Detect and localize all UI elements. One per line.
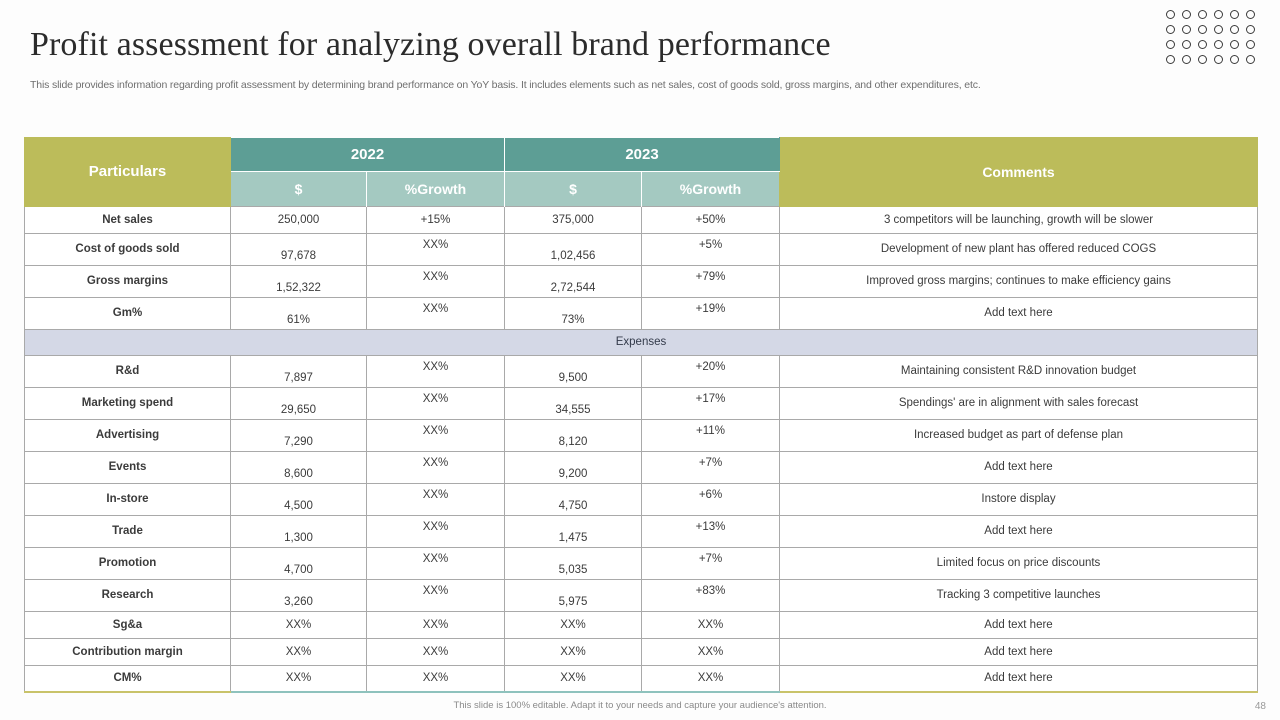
cell-2022-dollar: 4,700 [231, 547, 367, 579]
decorative-dot [1198, 25, 1207, 34]
cell-comment: Improved gross margins; continues to mak… [780, 265, 1258, 297]
cell-2022-growth: XX% [367, 419, 505, 451]
cell-2023-dollar: 5,035 [505, 547, 642, 579]
decorative-dot-grid [1166, 10, 1262, 70]
cell-2023-growth: +6% [642, 483, 780, 515]
row-label: CM% [25, 665, 231, 692]
cell-2023-dollar: XX% [505, 638, 642, 665]
cell-2023-growth: +50% [642, 206, 780, 233]
cell-comment: 3 competitors will be launching, growth … [780, 206, 1258, 233]
cell-2023-growth: XX% [642, 611, 780, 638]
cell-2023-dollar: XX% [505, 665, 642, 692]
cell-2023-dollar: 9,200 [505, 451, 642, 483]
cell-2023-growth: XX% [642, 665, 780, 692]
decorative-dot [1182, 10, 1191, 19]
column-header-comments: Comments [780, 138, 1258, 207]
cell-2022-dollar: 8,600 [231, 451, 367, 483]
cell-2022-growth: XX% [367, 665, 505, 692]
cell-2022-dollar: 61% [231, 297, 367, 329]
cell-2023-dollar: 8,120 [505, 419, 642, 451]
cell-2023-growth: +7% [642, 451, 780, 483]
cell-2022-dollar: 97,678 [231, 233, 367, 265]
table-row: Sg&aXX%XX%XX%XX%Add text here [25, 611, 1258, 638]
cell-2022-growth: XX% [367, 638, 505, 665]
cell-comment: Add text here [780, 297, 1258, 329]
decorative-dot [1198, 40, 1207, 49]
row-label: Events [25, 451, 231, 483]
column-subheader-2022-growth: %Growth [367, 171, 505, 206]
table-row: Gm%61%XX%73%+19%Add text here [25, 297, 1258, 329]
cell-2023-dollar: 375,000 [505, 206, 642, 233]
cell-2022-dollar: 7,290 [231, 419, 367, 451]
cell-2023-growth: +13% [642, 515, 780, 547]
cell-comment: Add text here [780, 638, 1258, 665]
decorative-dot [1230, 40, 1239, 49]
cell-2022-growth: XX% [367, 355, 505, 387]
cell-2022-dollar: 4,500 [231, 483, 367, 515]
decorative-dot [1166, 40, 1175, 49]
row-label: R&d [25, 355, 231, 387]
cell-comment: Add text here [780, 611, 1258, 638]
cell-2023-growth: +20% [642, 355, 780, 387]
row-label: Net sales [25, 206, 231, 233]
table-row: R&d7,897XX%9,500+20%Maintaining consiste… [25, 355, 1258, 387]
cell-2023-growth: +5% [642, 233, 780, 265]
row-label: Sg&a [25, 611, 231, 638]
cell-2022-dollar: 1,52,322 [231, 265, 367, 297]
section-label-expenses: Expenses [25, 329, 1258, 355]
cell-2023-dollar: 4,750 [505, 483, 642, 515]
cell-comment: Tracking 3 competitive launches [780, 579, 1258, 611]
cell-2022-dollar: 250,000 [231, 206, 367, 233]
cell-2022-dollar: 1,300 [231, 515, 367, 547]
table-row: Research3,260XX%5,975+83%Tracking 3 comp… [25, 579, 1258, 611]
cell-2022-growth: XX% [367, 387, 505, 419]
cell-2023-dollar: 73% [505, 297, 642, 329]
cell-2022-growth: XX% [367, 297, 505, 329]
cell-2023-growth: +19% [642, 297, 780, 329]
decorative-dot [1182, 40, 1191, 49]
cell-comment: Add text here [780, 515, 1258, 547]
cell-2022-dollar: XX% [231, 611, 367, 638]
cell-comment: Limited focus on price discounts [780, 547, 1258, 579]
cell-comment: Maintaining consistent R&D innovation bu… [780, 355, 1258, 387]
decorative-dot [1182, 25, 1191, 34]
cell-2023-growth: +11% [642, 419, 780, 451]
table-row: Net sales250,000+15%375,000+50%3 competi… [25, 206, 1258, 233]
table-row: Promotion4,700XX%5,035+7%Limited focus o… [25, 547, 1258, 579]
decorative-dot [1246, 10, 1255, 19]
cell-2022-growth: XX% [367, 233, 505, 265]
table-body: Net sales250,000+15%375,000+50%3 competi… [25, 206, 1258, 692]
table-row: CM%XX%XX%XX%XX%Add text here [25, 665, 1258, 692]
row-label: Gross margins [25, 265, 231, 297]
cell-2023-growth: XX% [642, 638, 780, 665]
row-label: Marketing spend [25, 387, 231, 419]
row-label: In-store [25, 483, 231, 515]
cell-2023-dollar: 34,555 [505, 387, 642, 419]
cell-comment: Development of new plant has offered red… [780, 233, 1258, 265]
profit-assessment-table: Particulars 2022 2023 Comments $ %Growth… [24, 137, 1258, 693]
page-title: Profit assessment for analyzing overall … [30, 26, 831, 64]
row-label: Trade [25, 515, 231, 547]
cell-2023-dollar: 5,975 [505, 579, 642, 611]
cell-2023-growth: +83% [642, 579, 780, 611]
cell-2022-growth: XX% [367, 451, 505, 483]
cell-2022-growth: XX% [367, 515, 505, 547]
column-subheader-2022-dollar: $ [231, 171, 367, 206]
decorative-dot [1166, 55, 1175, 64]
section-divider-row: Expenses [25, 329, 1258, 355]
decorative-dot [1214, 55, 1223, 64]
decorative-dot [1246, 25, 1255, 34]
table-row: Advertising7,290XX%8,120+11%Increased bu… [25, 419, 1258, 451]
footer-note: This slide is 100% editable. Adapt it to… [0, 700, 1280, 711]
column-header-year-2023: 2023 [505, 138, 780, 172]
table-row: Contribution marginXX%XX%XX%XX%Add text … [25, 638, 1258, 665]
decorative-dot [1246, 55, 1255, 64]
table-row: Events8,600XX%9,200+7%Add text here [25, 451, 1258, 483]
cell-comment: Add text here [780, 451, 1258, 483]
cell-2022-growth: XX% [367, 483, 505, 515]
cell-2023-dollar: 1,475 [505, 515, 642, 547]
decorative-dot [1230, 10, 1239, 19]
row-label: Gm% [25, 297, 231, 329]
decorative-dot [1198, 55, 1207, 64]
cell-2022-dollar: XX% [231, 665, 367, 692]
column-header-particulars: Particulars [25, 138, 231, 207]
row-label: Cost of goods sold [25, 233, 231, 265]
cell-2022-growth: XX% [367, 265, 505, 297]
column-subheader-2023-growth: %Growth [642, 171, 780, 206]
cell-comment: Increased budget as part of defense plan [780, 419, 1258, 451]
cell-2023-dollar: 9,500 [505, 355, 642, 387]
cell-2023-dollar: XX% [505, 611, 642, 638]
column-subheader-2023-dollar: $ [505, 171, 642, 206]
cell-2022-dollar: 3,260 [231, 579, 367, 611]
cell-2022-growth: XX% [367, 579, 505, 611]
page-number: 48 [1255, 701, 1266, 712]
decorative-dot [1214, 10, 1223, 19]
column-header-year-2022: 2022 [231, 138, 505, 172]
decorative-dot [1214, 40, 1223, 49]
table-row: Trade1,300XX%1,475+13%Add text here [25, 515, 1258, 547]
cell-2022-dollar: XX% [231, 638, 367, 665]
profit-table-container: Particulars 2022 2023 Comments $ %Growth… [24, 137, 1257, 693]
row-label: Advertising [25, 419, 231, 451]
row-label: Research [25, 579, 231, 611]
cell-2023-dollar: 1,02,456 [505, 233, 642, 265]
table-row: Gross margins1,52,322XX%2,72,544+79%Impr… [25, 265, 1258, 297]
decorative-dot [1230, 55, 1239, 64]
cell-comment: Spendings' are in alignment with sales f… [780, 387, 1258, 419]
cell-2022-growth: +15% [367, 206, 505, 233]
cell-2022-growth: XX% [367, 611, 505, 638]
decorative-dot [1182, 55, 1191, 64]
cell-2023-growth: +79% [642, 265, 780, 297]
table-row: Marketing spend29,650XX%34,555+17%Spendi… [25, 387, 1258, 419]
decorative-dot [1246, 40, 1255, 49]
decorative-dot [1230, 25, 1239, 34]
decorative-dot [1198, 10, 1207, 19]
table-row: In-store4,500XX%4,750+6%Instore display [25, 483, 1258, 515]
cell-comment: Instore display [780, 483, 1258, 515]
cell-2022-growth: XX% [367, 547, 505, 579]
cell-2022-dollar: 7,897 [231, 355, 367, 387]
decorative-dot [1214, 25, 1223, 34]
cell-2023-dollar: 2,72,544 [505, 265, 642, 297]
cell-2023-growth: +17% [642, 387, 780, 419]
row-label: Promotion [25, 547, 231, 579]
cell-2023-growth: +7% [642, 547, 780, 579]
table-header: Particulars 2022 2023 Comments $ %Growth… [25, 138, 1258, 207]
decorative-dot [1166, 10, 1175, 19]
cell-2022-dollar: 29,650 [231, 387, 367, 419]
page-subtitle: This slide provides information regardin… [30, 79, 981, 91]
decorative-dot [1166, 25, 1175, 34]
row-label: Contribution margin [25, 638, 231, 665]
table-row: Cost of goods sold97,678XX%1,02,456+5%De… [25, 233, 1258, 265]
cell-comment: Add text here [780, 665, 1258, 692]
